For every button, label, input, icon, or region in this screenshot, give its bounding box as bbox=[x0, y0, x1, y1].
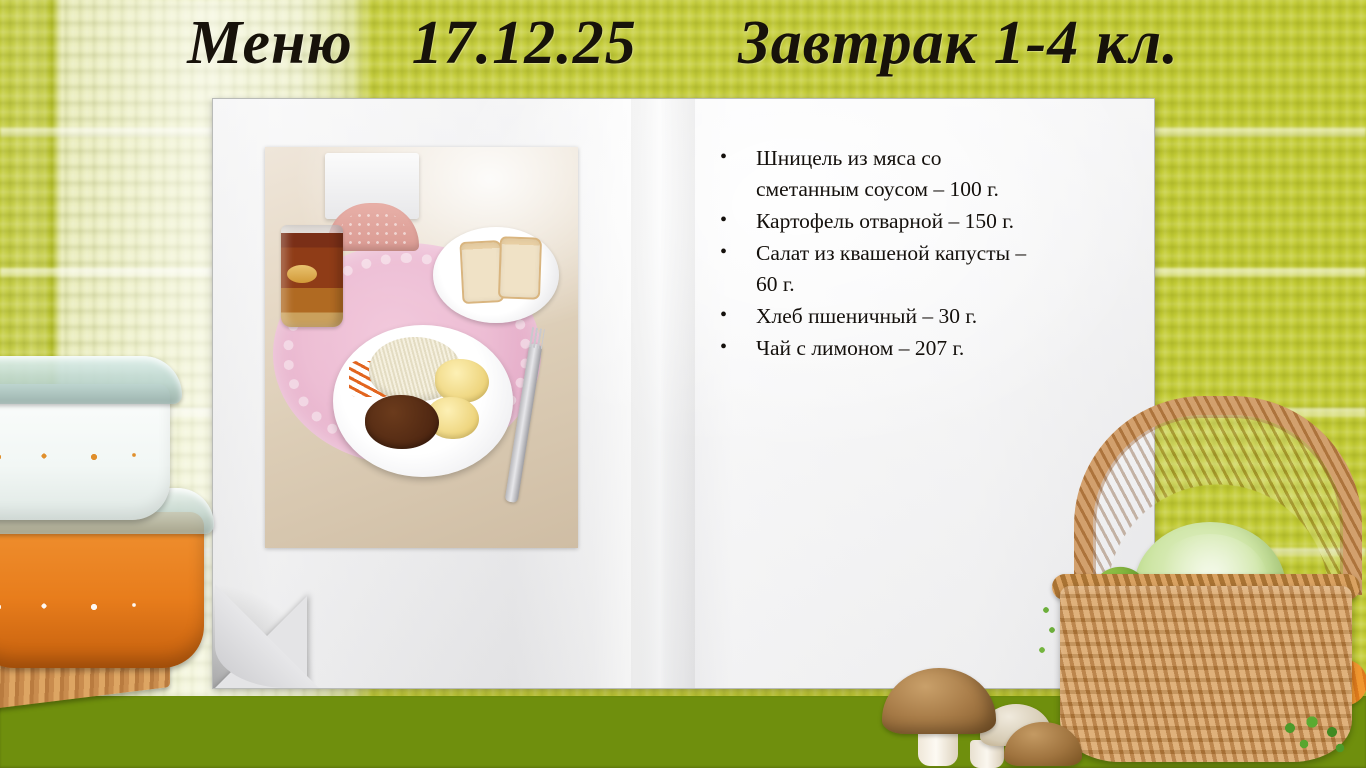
white-casserole-lid bbox=[0, 356, 182, 404]
list-item: Хлеб пшеничный – 30 г. bbox=[712, 301, 1042, 332]
casserole-dishes-icon bbox=[0, 330, 240, 730]
paper-fold-crease bbox=[631, 99, 695, 688]
photo-boiled-potato bbox=[435, 359, 489, 403]
photo-meat-schnitzel bbox=[365, 395, 439, 449]
title-date: 17.12.25 bbox=[412, 9, 637, 77]
list-item: Шницель из мяса со сметанным соусом – 10… bbox=[712, 143, 1042, 205]
orange-casserole bbox=[0, 512, 204, 668]
orange-flower-pattern bbox=[0, 442, 240, 472]
menu-list: Шницель из мяса со сметанным соусом – 10… bbox=[712, 143, 1042, 365]
parsley-icon bbox=[1278, 716, 1358, 768]
page-title: Меню 17.12.25 Завтрак 1-4 кл. bbox=[0, 8, 1366, 79]
list-item: Картофель отварной – 150 г. bbox=[712, 206, 1042, 237]
mushrooms-icon bbox=[876, 656, 1086, 768]
menu-list-items: Шницель из мяса со сметанным соусом – 10… bbox=[712, 143, 1042, 364]
photo-lemon-slice bbox=[287, 265, 317, 283]
title-menu-label: Меню bbox=[187, 9, 352, 77]
photo-bread-slice bbox=[498, 236, 542, 299]
menu-slide: Меню 17.12.25 Завтрак 1-4 кл. bbox=[0, 0, 1366, 768]
title-meal-grades: Завтрак 1-4 кл. bbox=[738, 9, 1179, 77]
breakfast-photo bbox=[265, 147, 578, 548]
mushroom-cap bbox=[882, 668, 996, 734]
vegetable-basket-icon bbox=[1042, 392, 1366, 762]
white-flower-pattern bbox=[0, 592, 240, 622]
list-item: Чай с лимоном – 207 г. bbox=[712, 333, 1042, 364]
list-item: Салат из квашеной капусты – 60 г. bbox=[712, 238, 1042, 300]
